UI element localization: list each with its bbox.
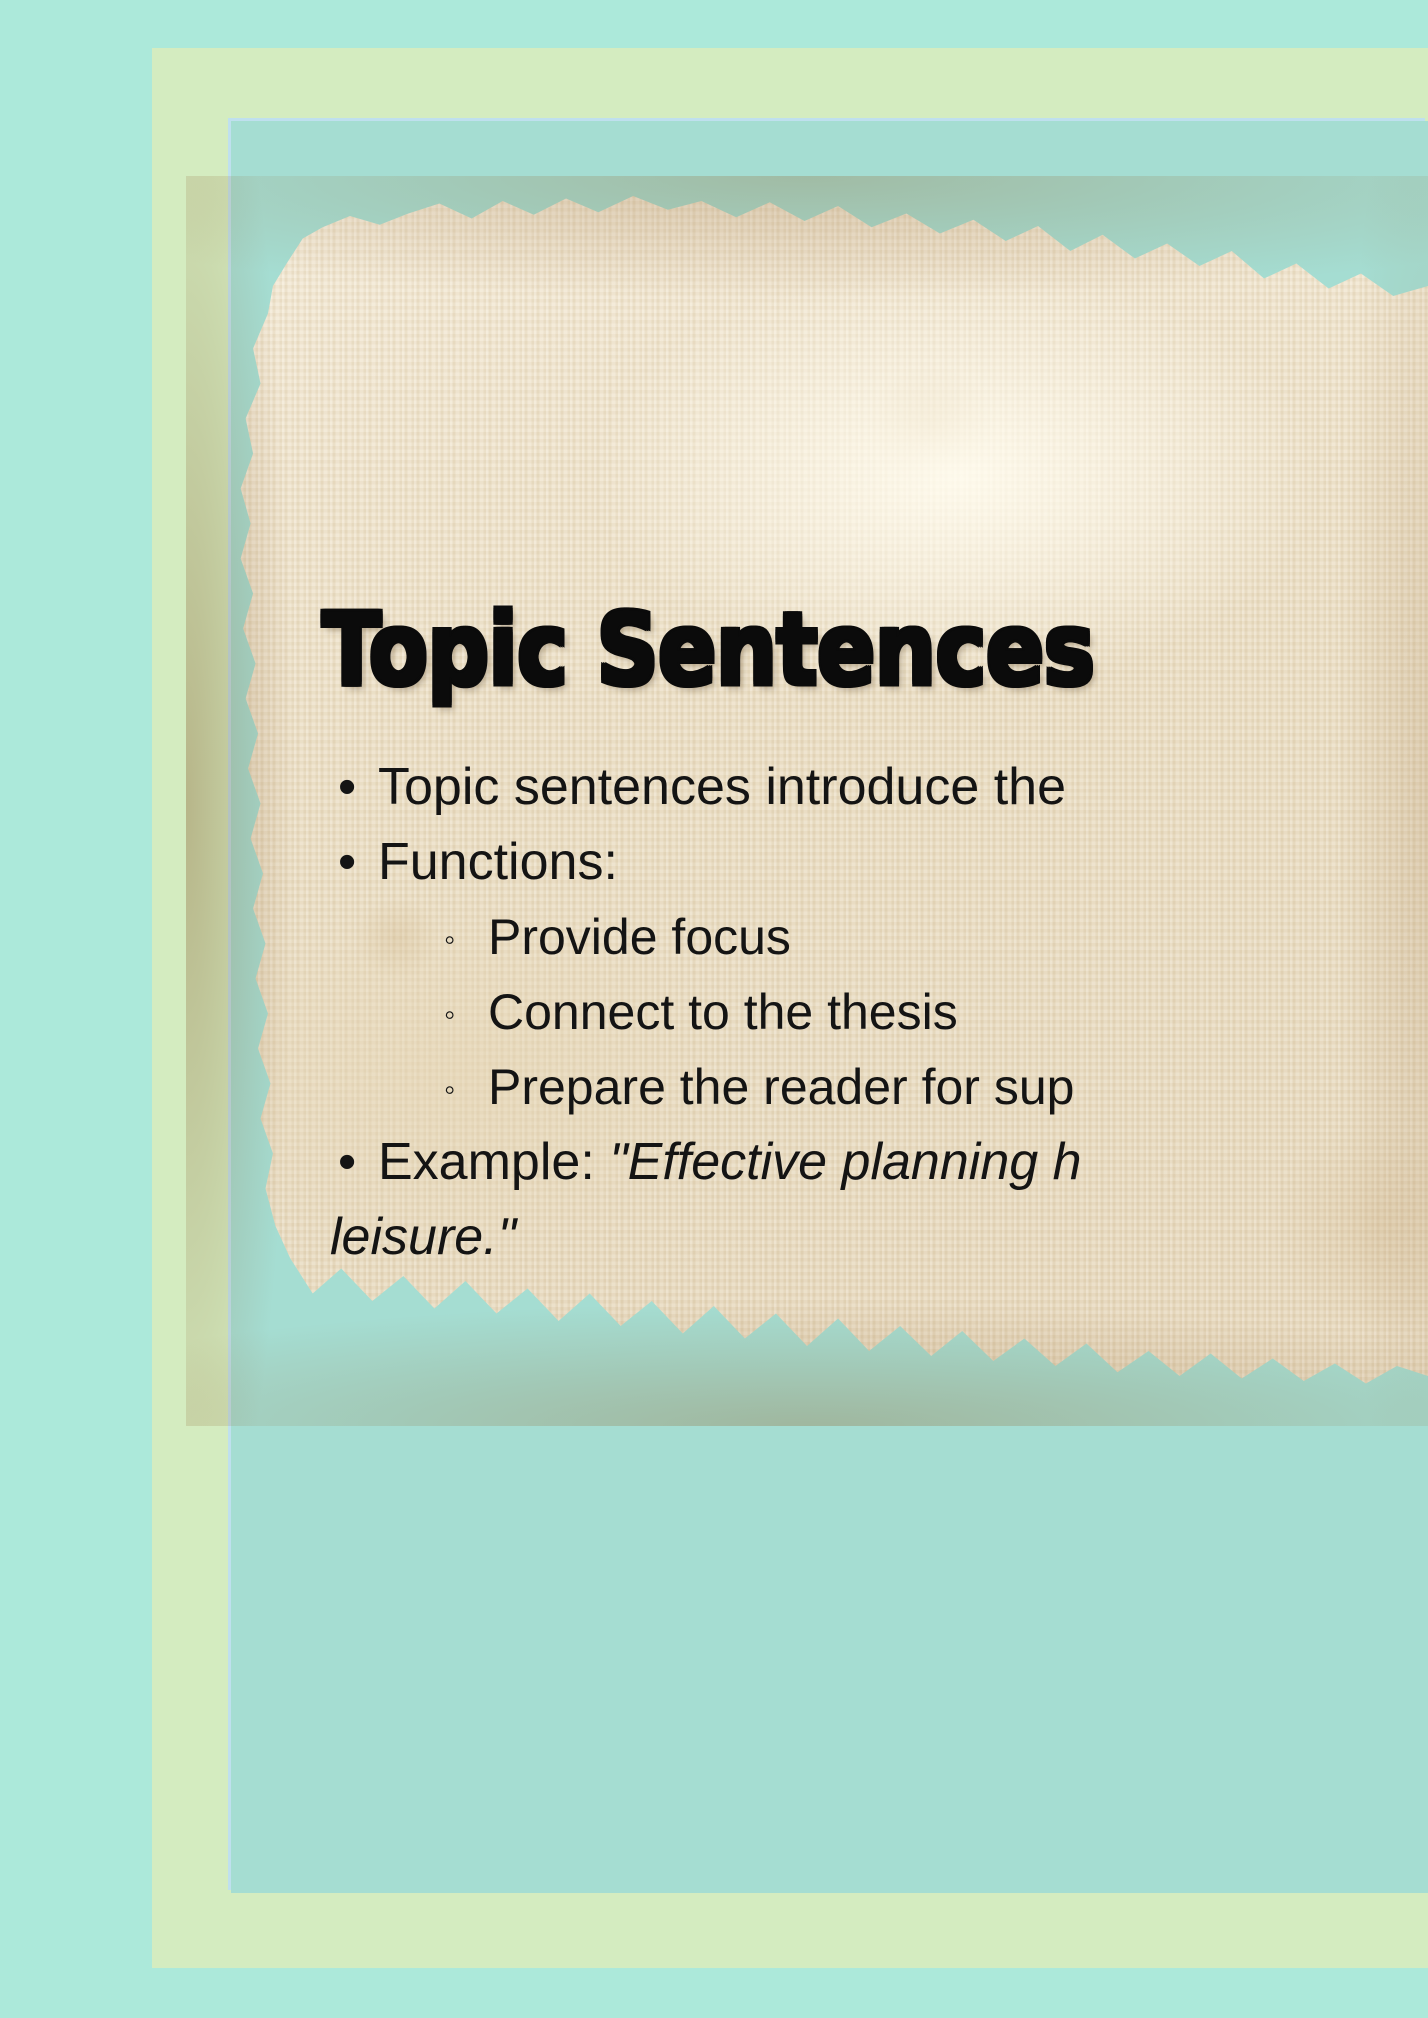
paper-texture	[186, 176, 1428, 1426]
torn-paper-graphic	[186, 176, 1428, 1426]
slide-canvas: Topic Sentences • Topic sentences introd…	[0, 0, 1428, 2018]
